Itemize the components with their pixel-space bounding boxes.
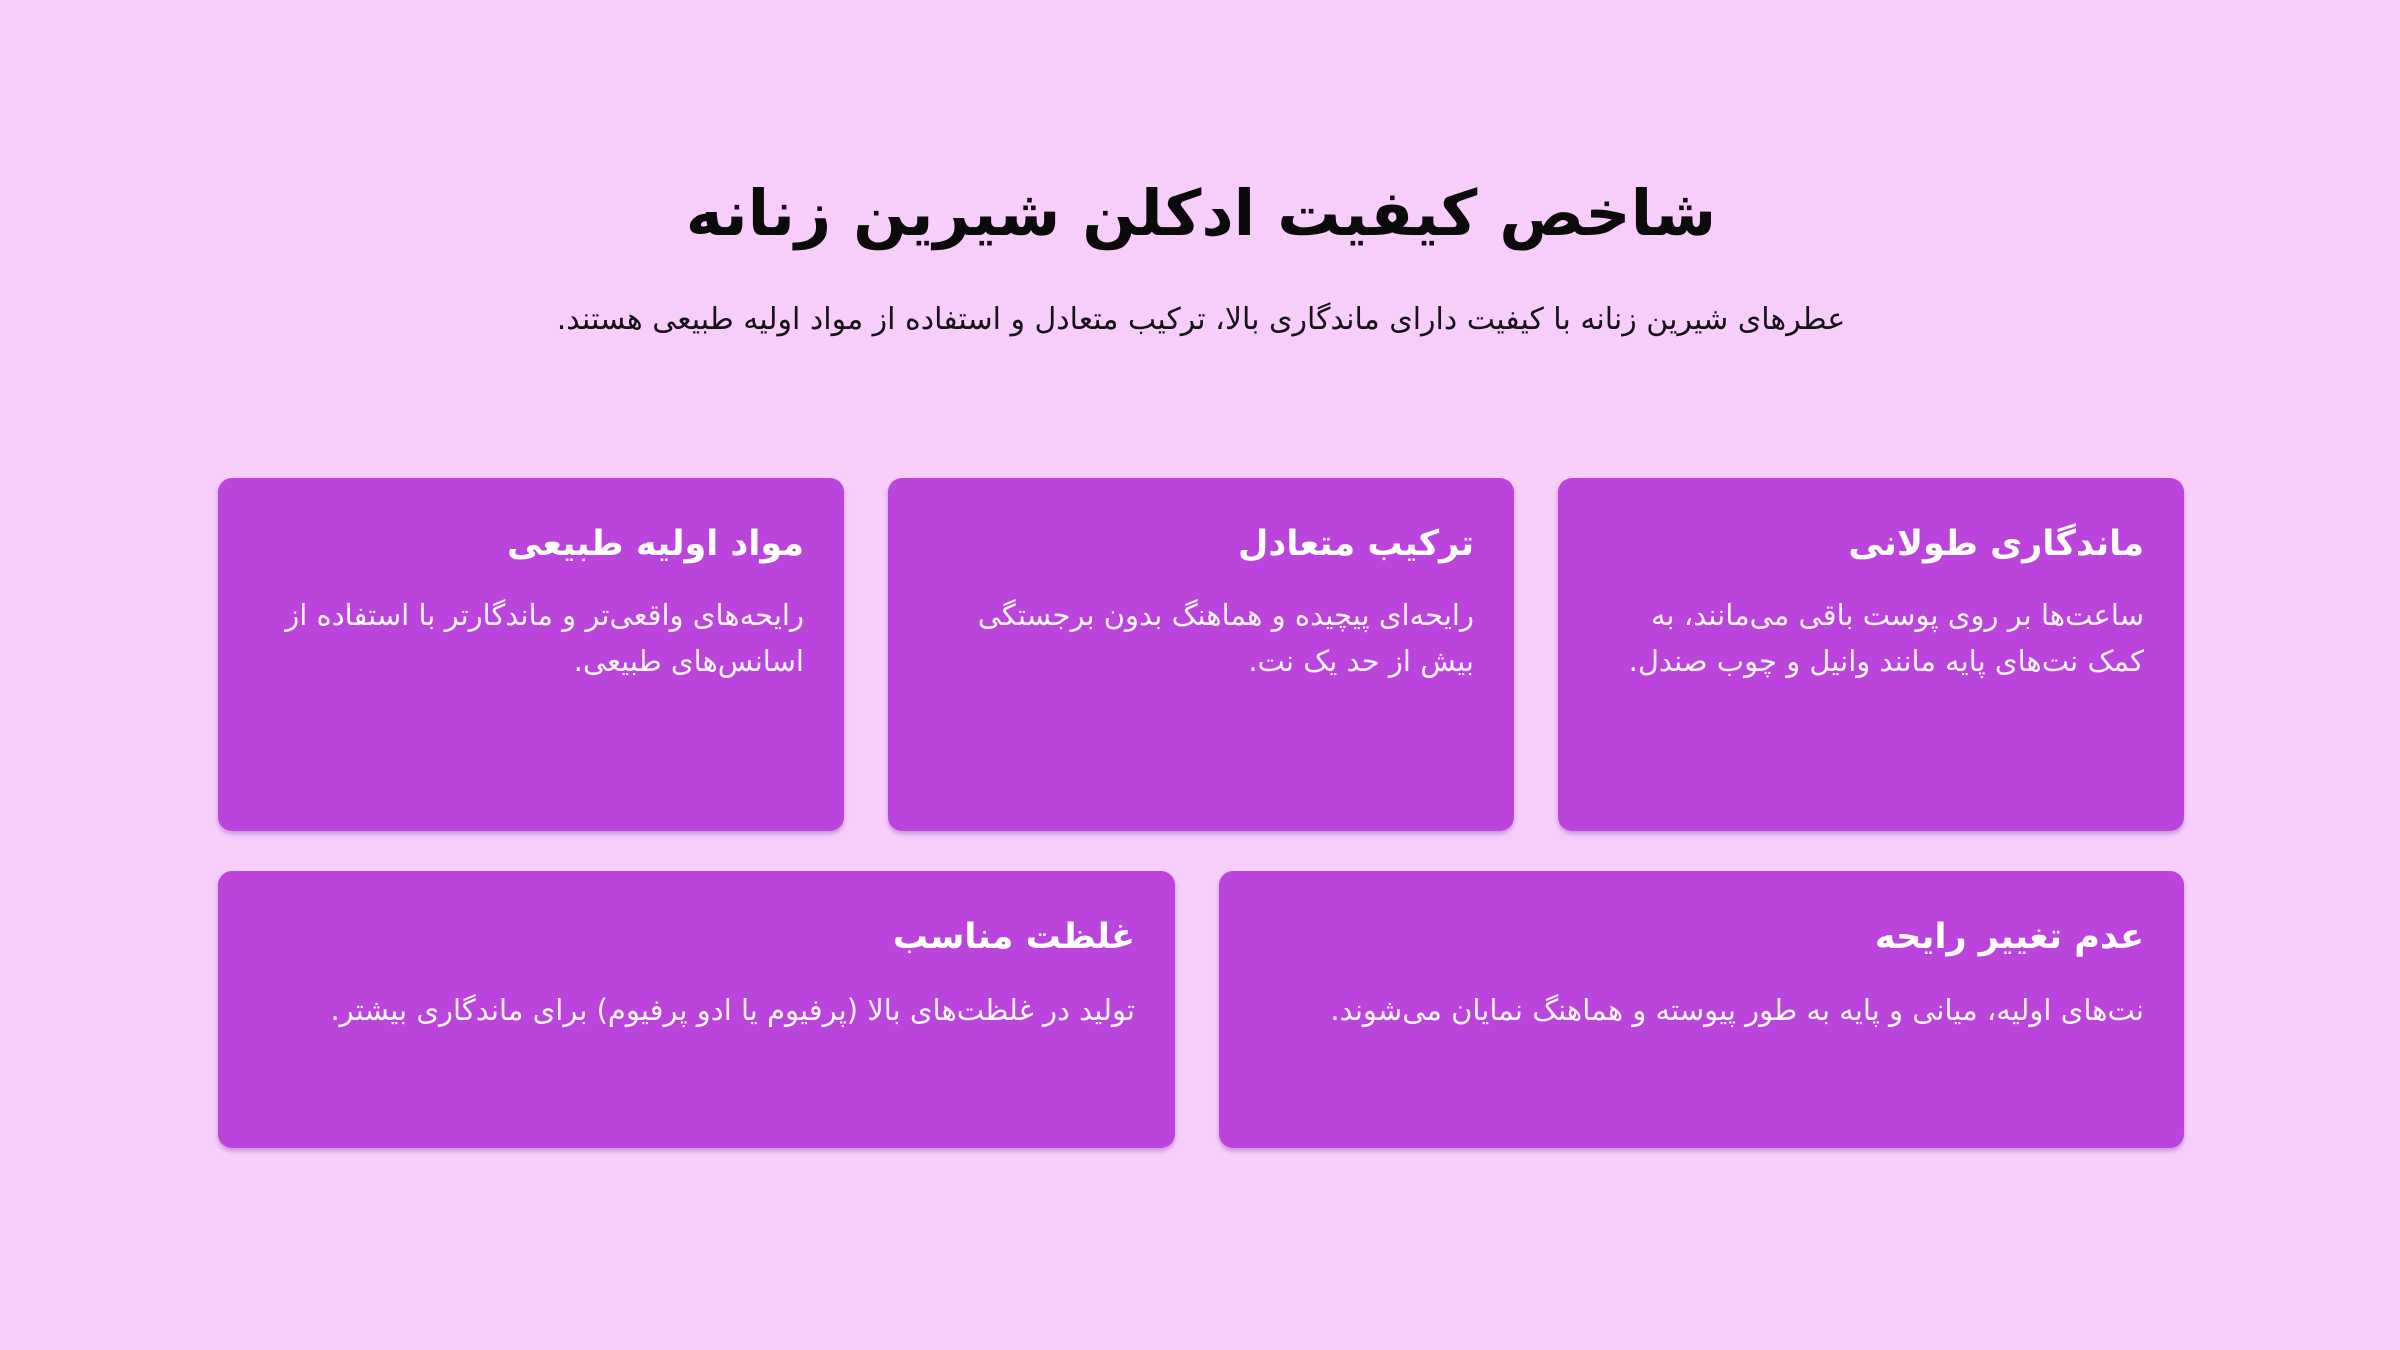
card-body: تولید در غلظت‌های بالا (پرفیوم یا ادو پر… (258, 987, 1135, 1034)
card-title: ماندگاری طولانی (1598, 522, 2144, 568)
card-title: عدم تغییر رایحه (1259, 915, 2144, 961)
feature-card-natural-ingredients[interactable]: مواد اولیه طبیعی رایحه‌های واقعی‌تر و ما… (218, 478, 844, 831)
card-title: ترکیب متعادل (928, 522, 1474, 568)
card-row-bottom: عدم تغییر رایحه نت‌های اولیه، میانی و پا… (218, 871, 2184, 1148)
card-title: مواد اولیه طبیعی (258, 522, 804, 568)
feature-card-grid: ماندگاری طولانی ساعت‌ها بر روی پوست باقی… (218, 478, 2184, 1148)
header: شاخص کیفیت ادکلن شیرین زنانه عطرهای شیری… (218, 176, 2184, 343)
card-row-top: ماندگاری طولانی ساعت‌ها بر روی پوست باقی… (218, 478, 2184, 831)
feature-card-balanced-composition[interactable]: ترکیب متعادل رایحه‌ای پیچیده و هماهنگ بد… (888, 478, 1514, 831)
card-body: نت‌های اولیه، میانی و پایه به طور پیوسته… (1259, 987, 2144, 1034)
feature-card-longevity[interactable]: ماندگاری طولانی ساعت‌ها بر روی پوست باقی… (1558, 478, 2184, 831)
page-subtitle: عطرهای شیرین زنانه با کیفیت دارای ماندگا… (218, 297, 2184, 344)
card-body: رایحه‌ای پیچیده و هماهنگ بدون برجستگی بی… (928, 592, 1474, 686)
infographic-page: شاخص کیفیت ادکلن شیرین زنانه عطرهای شیری… (0, 0, 2400, 1350)
card-title: غلظت مناسب (258, 915, 1135, 961)
card-body: ساعت‌ها بر روی پوست باقی می‌مانند، به کم… (1598, 592, 2144, 686)
page-title: شاخص کیفیت ادکلن شیرین زنانه (218, 176, 2184, 253)
feature-card-scent-stability[interactable]: عدم تغییر رایحه نت‌های اولیه، میانی و پا… (1219, 871, 2184, 1148)
card-body: رایحه‌های واقعی‌تر و ماندگارتر با استفاد… (258, 592, 804, 686)
feature-card-concentration[interactable]: غلظت مناسب تولید در غلظت‌های بالا (پرفیو… (218, 871, 1175, 1148)
